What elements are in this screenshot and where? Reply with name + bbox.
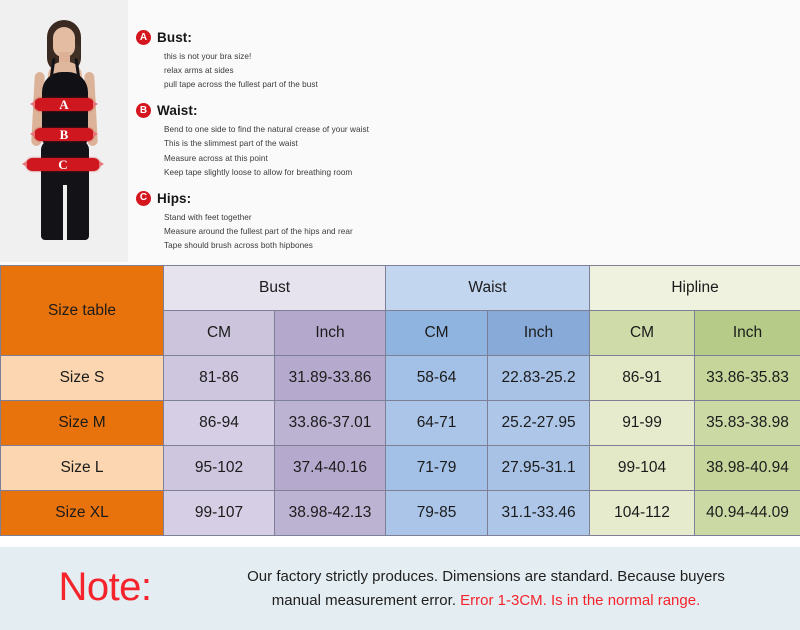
- unit-header-hip-inch: Inch: [695, 311, 800, 356]
- instruction-line: relax arms at sides: [136, 64, 800, 78]
- cell-hip-inch: 38.98-40.94: [695, 446, 800, 491]
- note-line-1: Our factory strictly produces. Dimension…: [247, 568, 725, 585]
- group-header-hipline: Hipline: [590, 266, 800, 311]
- cell-waist-inch: 22.83-25.2: [488, 356, 590, 401]
- size-table-container: Size table Bust Waist Hipline CM Inch CM…: [0, 265, 800, 547]
- instruction-line: Bend to one side to find the natural cre…: [136, 123, 800, 137]
- unit-header-waist-inch: Inch: [488, 311, 590, 356]
- badge-b-icon: B: [136, 103, 151, 118]
- table-header-row-groups: Size table Bust Waist Hipline: [1, 266, 800, 311]
- group-header-waist: Waist: [386, 266, 590, 311]
- instruction-group-hips: C Hips: Stand with feet together Measure…: [136, 191, 800, 253]
- cell-waist-inch: 25.2-27.95: [488, 401, 590, 446]
- note-body: Our factory strictly produces. Dimension…: [196, 565, 786, 612]
- instruction-line: Measure around the fullest part of the h…: [136, 225, 800, 239]
- unit-header-waist-cm: CM: [386, 311, 488, 356]
- bust-measure-band: A: [34, 98, 94, 111]
- model-leg-gap: [63, 185, 67, 243]
- cell-hip-inch: 33.86-35.83: [695, 356, 800, 401]
- band-label-c: C: [58, 158, 67, 171]
- table-row: Size L 95-102 37.4-40.16 71-79 27.95-31.…: [1, 446, 800, 491]
- cell-bust-cm: 86-94: [164, 401, 275, 446]
- instruction-line: Stand with feet together: [136, 211, 800, 225]
- row-size-label: Size L: [1, 446, 164, 491]
- cell-waist-cm: 58-64: [386, 356, 488, 401]
- row-size-label: Size S: [1, 356, 164, 401]
- cell-bust-inch: 33.86-37.01: [275, 401, 386, 446]
- table-row: Size XL 99-107 38.98-42.13 79-85 31.1-33…: [1, 491, 800, 536]
- note-line-2-warning: Error 1-3CM. Is in the normal range.: [460, 592, 700, 609]
- unit-header-bust-inch: Inch: [275, 311, 386, 356]
- instruction-line: pull tape across the fullest part of the…: [136, 78, 800, 92]
- size-table: Size table Bust Waist Hipline CM Inch CM…: [0, 265, 800, 536]
- instruction-title-hips: Hips:: [157, 191, 191, 206]
- cell-waist-cm: 71-79: [386, 446, 488, 491]
- instruction-group-bust: A Bust: this is not your bra size! relax…: [136, 30, 800, 92]
- badge-a-icon: A: [136, 30, 151, 45]
- instruction-header-bust: A Bust:: [136, 30, 800, 45]
- table-row: Size S 81-86 31.89-33.86 58-64 22.83-25.…: [1, 356, 800, 401]
- cell-bust-cm: 95-102: [164, 446, 275, 491]
- unit-header-bust-cm: CM: [164, 311, 275, 356]
- band-label-b: B: [60, 128, 69, 141]
- instruction-line: This is the slimmest part of the waist: [136, 137, 800, 151]
- cell-hip-cm: 99-104: [590, 446, 695, 491]
- note-section: Note: Our factory strictly produces. Dim…: [0, 547, 800, 630]
- model-photo: A B C: [0, 0, 128, 262]
- cell-bust-inch: 38.98-42.13: [275, 491, 386, 536]
- hips-measure-band: C: [26, 158, 100, 171]
- measurement-guide-section: A B C A Bust: this is not your bra size!…: [0, 0, 800, 265]
- unit-header-hip-cm: CM: [590, 311, 695, 356]
- instruction-line: Keep tape slightly loose to allow for br…: [136, 166, 800, 180]
- row-size-label: Size M: [1, 401, 164, 446]
- note-line-2-plain: manual measurement error.: [272, 592, 460, 609]
- cell-waist-cm: 64-71: [386, 401, 488, 446]
- band-label-a: A: [59, 98, 68, 111]
- cell-bust-cm: 81-86: [164, 356, 275, 401]
- cell-bust-cm: 99-107: [164, 491, 275, 536]
- note-label: Note:: [14, 567, 196, 611]
- instruction-header-waist: B Waist:: [136, 103, 800, 118]
- cell-waist-cm: 79-85: [386, 491, 488, 536]
- table-row: Size M 86-94 33.86-37.01 64-71 25.2-27.9…: [1, 401, 800, 446]
- cell-bust-inch: 31.89-33.86: [275, 356, 386, 401]
- instruction-title-bust: Bust:: [157, 30, 192, 45]
- instruction-title-waist: Waist:: [157, 103, 198, 118]
- size-chart-page: A B C A Bust: this is not your bra size!…: [0, 0, 800, 630]
- instruction-header-hips: C Hips:: [136, 191, 800, 206]
- size-table-corner-label: Size table: [1, 266, 164, 356]
- row-size-label: Size XL: [1, 491, 164, 536]
- cell-hip-inch: 35.83-38.98: [695, 401, 800, 446]
- cell-hip-cm: 91-99: [590, 401, 695, 446]
- cell-hip-inch: 40.94-44.09: [695, 491, 800, 536]
- waist-measure-band: B: [34, 128, 94, 141]
- instruction-line: Measure across at this point: [136, 152, 800, 166]
- instruction-line: this is not your bra size!: [136, 50, 800, 64]
- instructions-list: A Bust: this is not your bra size! relax…: [128, 0, 800, 264]
- cell-waist-inch: 27.95-31.1: [488, 446, 590, 491]
- cell-hip-cm: 104-112: [590, 491, 695, 536]
- instruction-group-waist: B Waist: Bend to one side to find the na…: [136, 103, 800, 179]
- instruction-line: Tape should brush across both hipbones: [136, 239, 800, 253]
- group-header-bust: Bust: [164, 266, 386, 311]
- badge-c-icon: C: [136, 191, 151, 206]
- cell-hip-cm: 86-91: [590, 356, 695, 401]
- cell-waist-inch: 31.1-33.46: [488, 491, 590, 536]
- cell-bust-inch: 37.4-40.16: [275, 446, 386, 491]
